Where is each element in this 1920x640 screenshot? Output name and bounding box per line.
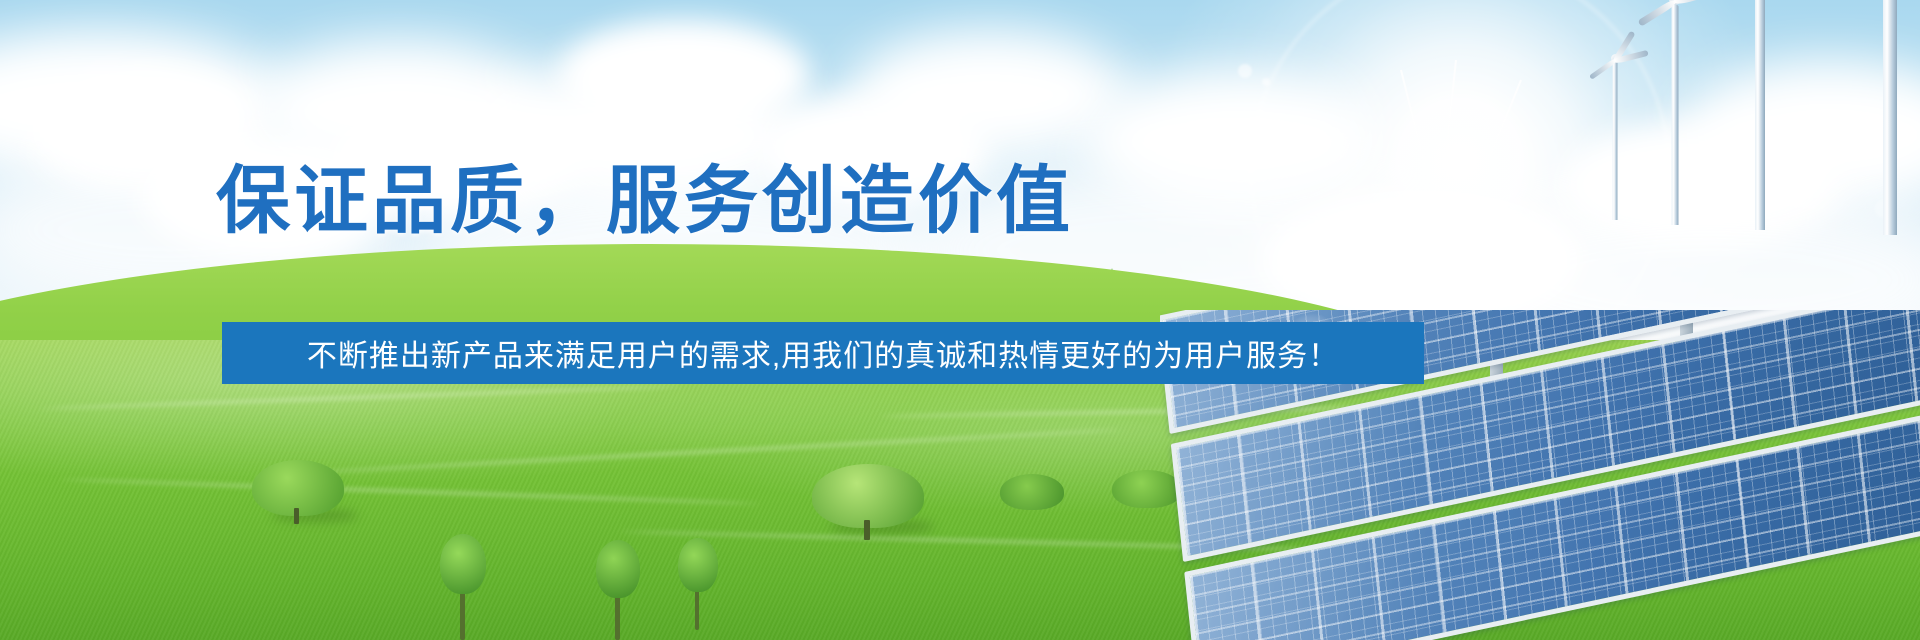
hero-banner: 保证品质，服务创造价值 不断推出新产品来满足用户的需求,用我们的真诚和热情更好的… bbox=[0, 0, 1920, 640]
page-title: 保证品质，服务创造价值 bbox=[0, 164, 1290, 238]
subtitle-text: 不断推出新产品来满足用户的需求,用我们的真诚和热情更好的为用户服务！ bbox=[307, 331, 1339, 375]
subtitle-bar: 不断推出新产品来满足用户的需求,用我们的真诚和热情更好的为用户服务！ bbox=[222, 322, 1424, 384]
banner-copy: 保证品质，服务创造价值 不断推出新产品来满足用户的需求,用我们的真诚和热情更好的… bbox=[0, 0, 1920, 640]
